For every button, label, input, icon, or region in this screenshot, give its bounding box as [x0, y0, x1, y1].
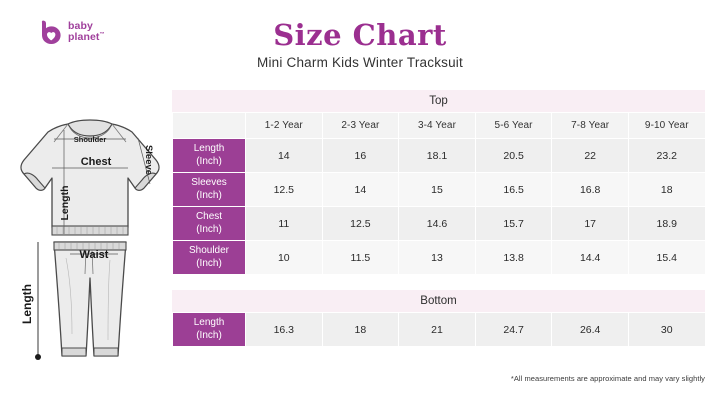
cell-value: 16.5 — [475, 173, 552, 207]
tracksuit-illustration: Shoulder Chest Sleeve Length — [10, 108, 170, 388]
label-sleeve: Sleeve — [143, 145, 154, 175]
row-label-text: Length — [175, 317, 243, 330]
cell-value: 11.5 — [322, 241, 399, 275]
label-shoulder: Shoulder — [74, 135, 107, 144]
top-size-table: 1-2 Year 2-3 Year 3-4 Year 5-6 Year 7-8 … — [172, 112, 706, 275]
cell-value: 18 — [628, 173, 705, 207]
row-unit-text: (Inch) — [175, 330, 243, 343]
cell-value: 13.8 — [475, 241, 552, 275]
top-age-header: 5-6 Year — [475, 113, 552, 139]
top-age-header: 2-3 Year — [322, 113, 399, 139]
row-label-text: Sleeves — [175, 177, 243, 190]
label-bottom-length: Length — [20, 284, 34, 324]
table-row: Sleeves (Inch) 12.5 14 15 16.5 16.8 18 — [173, 173, 706, 207]
top-age-header: 1-2 Year — [246, 113, 323, 139]
cell-value: 15 — [399, 173, 476, 207]
row-unit-text: (Inch) — [175, 156, 243, 169]
table-row: Shoulder (Inch) 10 11.5 13 13.8 14.4 15.… — [173, 241, 706, 275]
top-age-header: 3-4 Year — [399, 113, 476, 139]
cell-value: 26.4 — [552, 313, 629, 347]
top-header-corner — [173, 113, 246, 139]
row-unit-text: (Inch) — [175, 258, 243, 271]
row-label-bottom-length: Length (Inch) — [173, 313, 246, 347]
cell-value: 21 — [399, 313, 476, 347]
cell-value: 14.6 — [399, 207, 476, 241]
cell-value: 15.4 — [628, 241, 705, 275]
cell-value: 10 — [246, 241, 323, 275]
table-row: Chest (Inch) 11 12.5 14.6 15.7 17 18.9 — [173, 207, 706, 241]
row-label-chest: Chest (Inch) — [173, 207, 246, 241]
top-age-header: 9-10 Year — [628, 113, 705, 139]
cell-value: 24.7 — [475, 313, 552, 347]
row-label-text: Chest — [175, 211, 243, 224]
bottom-size-section: Bottom Length (Inch) 16.3 18 21 24.7 26.… — [172, 290, 705, 347]
page-title: Size Chart — [0, 18, 720, 52]
label-top-length: Length — [59, 186, 71, 221]
size-chart-page: baby planet™ Size Chart Mini Charm Kids … — [0, 0, 720, 405]
row-label-text: Shoulder — [175, 245, 243, 258]
cell-value: 13 — [399, 241, 476, 275]
row-label-sleeves: Sleeves (Inch) — [173, 173, 246, 207]
label-chest: Chest — [81, 156, 112, 168]
row-unit-text: (Inch) — [175, 190, 243, 203]
cell-value: 12.5 — [322, 207, 399, 241]
cell-value: 14 — [322, 173, 399, 207]
cell-value: 14.4 — [552, 241, 629, 275]
cell-value: 16 — [322, 139, 399, 173]
cell-value: 30 — [628, 313, 705, 347]
cell-value: 17 — [552, 207, 629, 241]
cell-value: 23.2 — [628, 139, 705, 173]
cell-value: 15.7 — [475, 207, 552, 241]
cell-value: 11 — [246, 207, 323, 241]
row-label-length: Length (Inch) — [173, 139, 246, 173]
cell-value: 18.9 — [628, 207, 705, 241]
cell-value: 20.5 — [475, 139, 552, 173]
top-size-section: Top 1-2 Year 2-3 Year 3-4 Year 5-6 Year … — [172, 90, 705, 275]
top-age-header: 7-8 Year — [552, 113, 629, 139]
row-unit-text: (Inch) — [175, 224, 243, 237]
cell-value: 22 — [552, 139, 629, 173]
row-label-text: Length — [175, 143, 243, 156]
bottom-section-band: Bottom — [172, 290, 705, 312]
page-subtitle: Mini Charm Kids Winter Tracksuit — [0, 55, 720, 70]
label-waist: Waist — [80, 249, 109, 261]
cell-value: 18 — [322, 313, 399, 347]
cell-value: 18.1 — [399, 139, 476, 173]
cell-value: 12.5 — [246, 173, 323, 207]
bottom-size-table: Length (Inch) 16.3 18 21 24.7 26.4 30 — [172, 312, 706, 347]
row-label-shoulder: Shoulder (Inch) — [173, 241, 246, 275]
cell-value: 16.8 — [552, 173, 629, 207]
cell-value: 14 — [246, 139, 323, 173]
table-row: Length (Inch) 14 16 18.1 20.5 22 23.2 — [173, 139, 706, 173]
cell-value: 16.3 — [246, 313, 323, 347]
top-age-header-row: 1-2 Year 2-3 Year 3-4 Year 5-6 Year 7-8 … — [173, 113, 706, 139]
top-section-band: Top — [172, 90, 705, 112]
table-row: Length (Inch) 16.3 18 21 24.7 26.4 30 — [173, 313, 706, 347]
measurement-disclaimer: *All measurements are approximate and ma… — [511, 374, 705, 383]
